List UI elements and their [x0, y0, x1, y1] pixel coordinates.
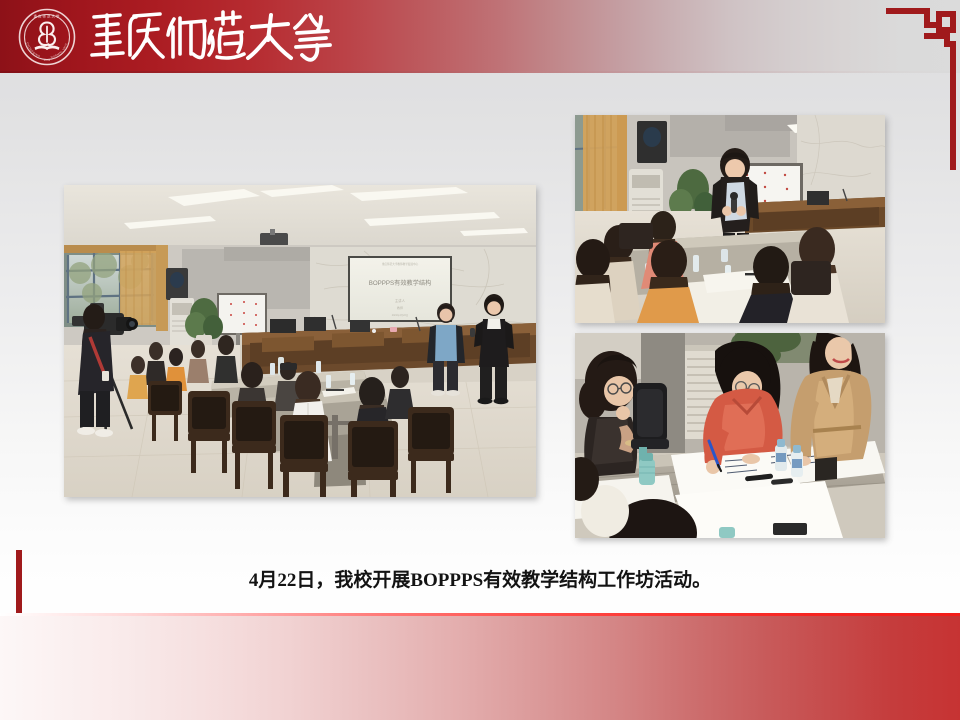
svg-text:主讲人: 主讲人: [395, 298, 406, 303]
photo-br-scene: [575, 333, 885, 538]
university-wordmark: [88, 7, 338, 65]
university-seal-icon: 重庆师范大学 1954 CHONGQING NORMAL UNIV.: [18, 8, 76, 66]
svg-text:重庆师范大学教师教学发展中心: 重庆师范大学教师教学发展中心: [382, 262, 419, 266]
chinese-corner-ornament-top-right: [886, 8, 960, 170]
svg-text:1954: 1954: [44, 59, 51, 62]
photo-main-scene: 重庆师范大学教师教学发展中心 BOPPPS有效教学结构 主讲人 教师 2021年…: [64, 185, 536, 497]
slide-caption: 4月22日，我校开展BOPPPS有效教学结构工作坊活动。: [0, 565, 960, 592]
header-banner: 重庆师范大学 1954 CHONGQING NORMAL UNIV.: [0, 0, 960, 73]
svg-text:BOPPPS有效教学结构: BOPPPS有效教学结构: [369, 279, 432, 287]
footer-gradient-band: [0, 616, 960, 720]
svg-text:重庆师范大学: 重庆师范大学: [34, 14, 61, 19]
svg-text:教师: 教师: [397, 305, 403, 310]
slide-canvas: 重庆师范大学 1954 CHONGQING NORMAL UNIV.: [0, 0, 960, 720]
photo-tr-scene: [575, 115, 885, 323]
photo-presenter-with-microphone: [575, 115, 885, 323]
svg-text:2021年4月22日: 2021年4月22日: [392, 313, 408, 317]
photo-conference-room-wide: 重庆师范大学教师教学发展中心 BOPPPS有效教学结构 主讲人 教师 2021年…: [64, 185, 536, 497]
photo-group-work-writing: [575, 333, 885, 538]
